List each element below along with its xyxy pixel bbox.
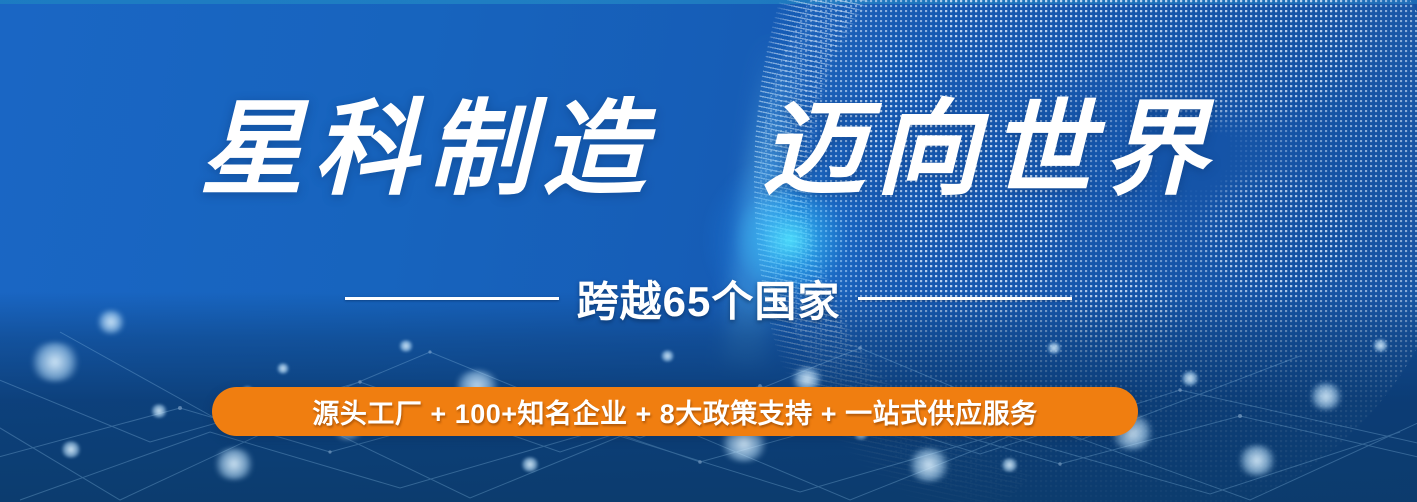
promo-banner: 星科制造 迈向世界 跨越65个国家 源头工厂 + 100+知名企业 + 8大政策… (0, 0, 1417, 502)
feature-badge-label: 源头工厂 + 100+知名企业 + 8大政策支持 + 一站式供应服务 (312, 392, 1037, 431)
subtitle-rule-right (858, 297, 1072, 300)
title-part-one: 星科制造 (199, 93, 655, 208)
subtitle-rule-left (345, 297, 559, 300)
banner-subtitle-row: 跨越65个国家 (0, 268, 1417, 329)
feature-badge[interactable]: 源头工厂 + 100+知名企业 + 8大政策支持 + 一站式供应服务 (212, 387, 1138, 436)
top-accent-strip (0, 0, 1417, 4)
title-part-two: 迈向世界 (762, 93, 1218, 208)
banner-subtitle: 跨越65个国家 (577, 268, 841, 329)
banner-title: 星科制造 迈向世界 (0, 96, 1417, 205)
